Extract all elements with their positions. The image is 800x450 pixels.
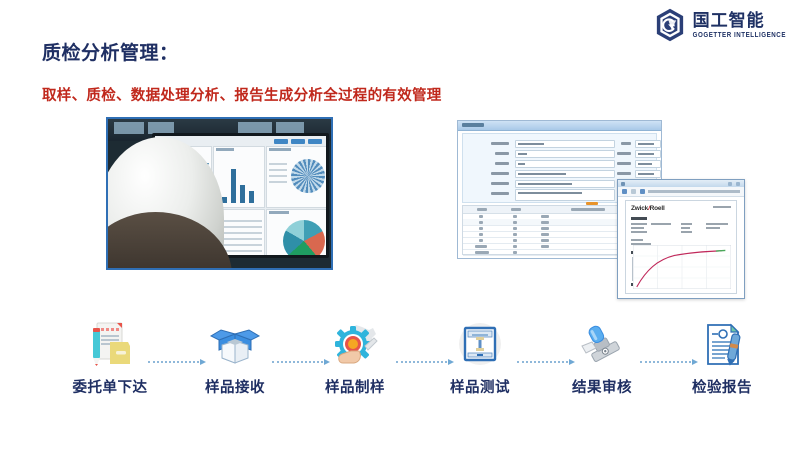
workflow-step-5[interactable]: 结果审核 [550,316,654,397]
workflow-step-label: 样品制样 [303,376,407,397]
workflow-step-1[interactable]: 委托单下达 [58,316,162,397]
report-brand-name: Zwick [631,205,648,212]
workflow-step-6[interactable]: 检验报告 [670,316,774,397]
workflow-step-3[interactable]: 样品制样 [303,316,407,397]
stress-strain-curve-chart [633,245,731,289]
window-toolbar[interactable] [618,187,744,197]
workflow-strip: 委托单下达 样品接收 [0,316,800,411]
document-pencil-folder-icon [58,316,162,374]
brand-name-cn: 国工智能 [693,12,786,29]
hexagon-g-logo-icon [653,8,687,42]
report-page: Zwick/Roell [625,200,737,294]
hand-gear-icon [303,316,407,374]
workflow-step-label: 结果审核 [550,376,654,397]
report-brand-suffix: Roell [650,205,665,212]
operator-viewing-dashboards-photo [106,117,333,270]
workflow-step-label: 检验报告 [670,376,774,397]
brand-logo: 国工智能 GOGETTER INTELLIGENCE [653,8,786,42]
report-document-pen-icon [670,316,774,374]
brand-name-en: GOGETTER INTELLIGENCE [693,32,786,40]
zwick-roell-test-report-screenshot: Zwick/Roell [617,179,745,299]
report-brand-logo: Zwick/Roell [631,205,665,212]
workflow-step-label: 样品接收 [183,376,287,397]
workflow-step-label: 样品测试 [428,376,532,397]
page-subtitle: 取样、质检、数据处理分析、报告生成分析全过程的有效管理 [42,84,442,105]
workflow-step-label: 委托单下达 [58,376,162,397]
page-title: 质检分析管理： [42,38,179,65]
approval-stamp-icon [550,316,654,374]
window-title-bar [458,121,661,131]
